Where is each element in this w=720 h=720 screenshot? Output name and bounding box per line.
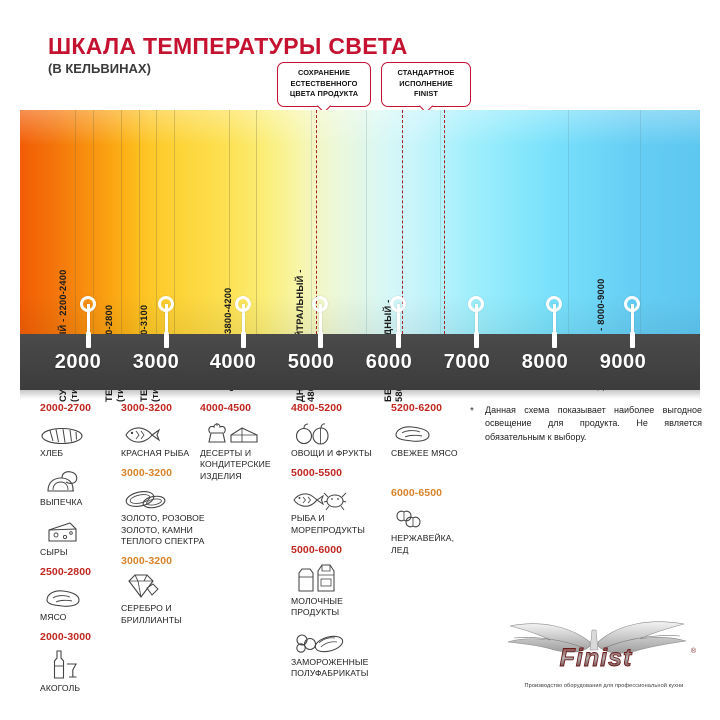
legend-column-1: 2000-2700 ХЛЕБ ВЫПЕЧКА xyxy=(40,402,112,703)
legend-item-label: МОЛОЧНЫЕ ПРОДУКТЫ xyxy=(291,596,387,619)
legend-range: 2000-3000 xyxy=(40,631,112,643)
diamond-icon xyxy=(121,571,211,601)
legend-range: 3000-3200 xyxy=(121,555,211,567)
legend-item-red-fish: КРАСНАЯ РЫБА xyxy=(121,418,211,459)
scale-tick xyxy=(241,332,246,348)
cheese-icon xyxy=(40,517,112,545)
scale-number-3000: 3000 xyxy=(133,351,180,374)
legend-group: 2000-2700 ХЛЕБ ВЫПЕЧКА xyxy=(40,402,112,558)
seafood-icon xyxy=(291,483,387,511)
legend-group: 5200-6200 СВЕЖЕЕ МЯСО xyxy=(391,402,473,459)
band-separator xyxy=(139,110,140,334)
legend-column-2: 3000-3200 КРАСНАЯ РЫБА 3000-3200 ЗОЛОТО,… xyxy=(121,402,211,634)
logo-tagline: Производство оборудования для профессион… xyxy=(508,683,700,689)
footnote: * Данная схема показывает наиболее выгод… xyxy=(470,404,702,444)
callout-line-1: СОХРАНЕНИЕ xyxy=(285,68,363,79)
callout-line-1: СТАНДАРТНОЕ xyxy=(389,68,463,79)
strip-shadow xyxy=(20,390,700,399)
scale-tick xyxy=(552,332,557,348)
scale-number-2000: 2000 xyxy=(55,351,102,374)
callout-line-2: ЕСТЕСТВЕННОГО xyxy=(285,79,363,90)
bread-icon xyxy=(40,418,112,446)
legend-group: 2000-3000 АКОГОЛЬ xyxy=(40,631,112,694)
legend-range: 3000-3200 xyxy=(121,402,211,414)
footnote-text: Данная схема показывает наиболее выгодно… xyxy=(485,404,702,444)
legend-item-label: МЯСО xyxy=(40,612,112,623)
scale-number-6000: 6000 xyxy=(366,351,413,374)
band-separator xyxy=(174,110,175,334)
legend-item-steel-ice: НЕРЖАВЕЙКА, ЛЕД xyxy=(391,503,473,556)
infographic-page: ШКАЛА ТЕМПЕРАТУРЫ СВЕТА (В КЕЛЬВИНАХ) СО… xyxy=(0,0,720,720)
registered-mark: ® xyxy=(691,648,696,655)
legend-item-diamonds: СЕРЕБРО И БРИЛЛИАНТЫ xyxy=(121,571,211,626)
scale-tick xyxy=(86,332,91,348)
vegetables-icon xyxy=(291,418,387,446)
band-separator xyxy=(568,110,569,334)
legend-item-label: ДЕСЕРТЫ И КОНДИТЕРСКИЕ ИЗДЕЛИЯ xyxy=(200,448,290,482)
legend-range: 3000-3200 xyxy=(121,467,211,479)
page-title: ШКАЛА ТЕМПЕРАТУРЫ СВЕТА xyxy=(48,33,408,60)
legend-item-fresh-meat: СВЕЖЕЕ МЯСО xyxy=(391,418,473,459)
legend-group: 2500-2800 МЯСО xyxy=(40,566,112,623)
legend-item-vegetables: ОВОЩИ И ФРУКТЫ xyxy=(291,418,387,459)
milk-icon xyxy=(291,560,387,594)
legend-item-label: СЫРЫ xyxy=(40,547,112,558)
legend-item-label: ЗАМОРОЖЕННЫЕ ПОЛУФАБРИКАТЫ xyxy=(291,657,387,680)
meat-icon xyxy=(40,582,112,610)
band-separator xyxy=(256,110,257,334)
legend-item-cheese: СЫРЫ xyxy=(40,517,112,558)
band-separator xyxy=(440,110,441,334)
legend-item-dairy: МОЛОЧНЫЕ ПРОДУКТЫ xyxy=(291,560,387,619)
legend-item-label: ОВОЩИ И ФРУКТЫ xyxy=(291,448,387,459)
gold-ring-icon xyxy=(121,483,211,511)
legend-column-5: 5200-6200 СВЕЖЕЕ МЯСО 6000-6500 НЕРЖАВЕЙ… xyxy=(391,402,473,564)
dessert-icon xyxy=(200,418,290,446)
temperature-scale: СУПЕР ТЕПЛЫЙ - 2200-2400 (тип К 2400) ТЕ… xyxy=(20,110,700,390)
scale-tick xyxy=(396,332,401,348)
legend-item-seafood: РЫБА И МОРЕПРОДУКТЫ xyxy=(291,483,387,536)
scale-tick xyxy=(474,332,479,348)
svg-text:Finist: Finist xyxy=(560,644,633,672)
legend-item-label: ХЛЕБ xyxy=(40,448,112,459)
pastry-icon xyxy=(40,467,112,495)
callout-natural-color: СОХРАНЕНИЕ ЕСТЕСТВЕННОГО ЦВЕТА ПРОДУКТА xyxy=(277,62,371,107)
callout-standard-finist: СТАНДАРТНОЕ ИСПОЛНЕНИЕ FINIST xyxy=(381,62,471,107)
finist-wing-logo: Finist xyxy=(492,612,702,682)
legend-range: 5000-6000 xyxy=(291,544,387,556)
frozen-icon xyxy=(291,627,387,655)
legend-item-pastry: ВЫПЕЧКА xyxy=(40,467,112,508)
steel-ice-icon xyxy=(391,503,473,531)
legend-item-gold: ЗОЛОТО, РОЗОВОЕ ЗОЛОТО, КАМНИ ТЕПЛОГО СП… xyxy=(121,483,211,547)
fresh-meat-icon xyxy=(391,418,473,446)
scale-tick xyxy=(630,332,635,348)
band-separator xyxy=(366,110,367,334)
legend-item-label: АКОГОЛЬ xyxy=(40,683,112,694)
scale-number-5000: 5000 xyxy=(288,351,335,374)
legend-range: 5000-5500 xyxy=(291,467,387,479)
legend-range: 6000-6500 xyxy=(391,487,473,499)
scale-tick xyxy=(164,332,169,348)
footnote-star: * xyxy=(470,406,474,417)
legend-item-meat: МЯСО xyxy=(40,582,112,623)
legend-group: 5000-6000 МОЛОЧНЫЕ ПРОДУКТЫ ЗАМОРОЖЕННЫЕ… xyxy=(291,544,387,679)
scale-tick xyxy=(318,332,323,348)
legend-item-bread: ХЛЕБ xyxy=(40,418,112,459)
legend-item-frozen: ЗАМОРОЖЕННЫЕ ПОЛУФАБРИКАТЫ xyxy=(291,627,387,680)
legend-range: 4000-4500 xyxy=(200,402,290,414)
legend-range: 4800-5200 xyxy=(291,402,387,414)
legend-item-label: РЫБА И МОРЕПРОДУКТЫ xyxy=(291,513,387,536)
legend-item-label: НЕРЖАВЕЙКА, ЛЕД xyxy=(391,533,473,556)
legend-item-label: ЗОЛОТО, РОЗОВОЕ ЗОЛОТО, КАМНИ ТЕПЛОГО СП… xyxy=(121,513,211,547)
dashed-marker-line xyxy=(444,110,445,334)
legend-range: 5200-6200 xyxy=(391,402,473,414)
scale-number-7000: 7000 xyxy=(444,351,491,374)
legend-item-label: КРАСНАЯ РЫБА xyxy=(121,448,211,459)
legend-group: 4000-4500 ДЕСЕРТЫ И КОНДИТЕРСКИЕ ИЗДЕЛИЯ xyxy=(200,402,290,482)
legend-group: 3000-3200 КРАСНАЯ РЫБА xyxy=(121,402,211,459)
scale-strip: 2000 3000 4000 5000 6000 7000 8000 9000 xyxy=(20,334,700,390)
band-separator xyxy=(121,110,122,334)
alcohol-icon xyxy=(40,647,112,681)
legend-group: 6000-6500 НЕРЖАВЕЙКА, ЛЕД xyxy=(391,487,473,556)
band-separator xyxy=(156,110,157,334)
legend-range: 2500-2800 xyxy=(40,566,112,578)
fish-icon xyxy=(121,418,211,446)
legend-group: 4800-5200 ОВОЩИ И ФРУКТЫ xyxy=(291,402,387,459)
legend-column-4: 4800-5200 ОВОЩИ И ФРУКТЫ 5000-5500 РЫБА … xyxy=(291,402,387,687)
legend-range: 2000-2700 xyxy=(40,402,112,414)
scale-number-4000: 4000 xyxy=(210,351,257,374)
legend-item-desserts: ДЕСЕРТЫ И КОНДИТЕРСКИЕ ИЗДЕЛИЯ xyxy=(200,418,290,482)
legend-group: 3000-3200 ЗОЛОТО, РОЗОВОЕ ЗОЛОТО, КАМНИ … xyxy=(121,467,211,547)
legend-item-alcohol: АКОГОЛЬ xyxy=(40,647,112,694)
band-separator xyxy=(640,110,641,334)
scale-number-9000: 9000 xyxy=(600,351,647,374)
callout-line-2: ИСПОЛНЕНИЕ xyxy=(389,79,463,90)
legend-item-label: ВЫПЕЧКА xyxy=(40,497,112,508)
page-subtitle: (В КЕЛЬВИНАХ) xyxy=(48,61,151,76)
legend-column-3: 4000-4500 ДЕСЕРТЫ И КОНДИТЕРСКИЕ ИЗДЕЛИЯ xyxy=(200,402,290,490)
legend-item-label: СВЕЖЕЕ МЯСО xyxy=(391,448,473,459)
company-logo: Finist ® Производство оборудования для п… xyxy=(492,612,702,696)
scale-number-8000: 8000 xyxy=(522,351,569,374)
legend-group: 5000-5500 РЫБА И МОРЕПРОДУКТЫ xyxy=(291,467,387,536)
legend-group: 3000-3200 СЕРЕБРО И БРИЛЛИАНТЫ xyxy=(121,555,211,626)
legend-item-label: СЕРЕБРО И БРИЛЛИАНТЫ xyxy=(121,603,211,626)
